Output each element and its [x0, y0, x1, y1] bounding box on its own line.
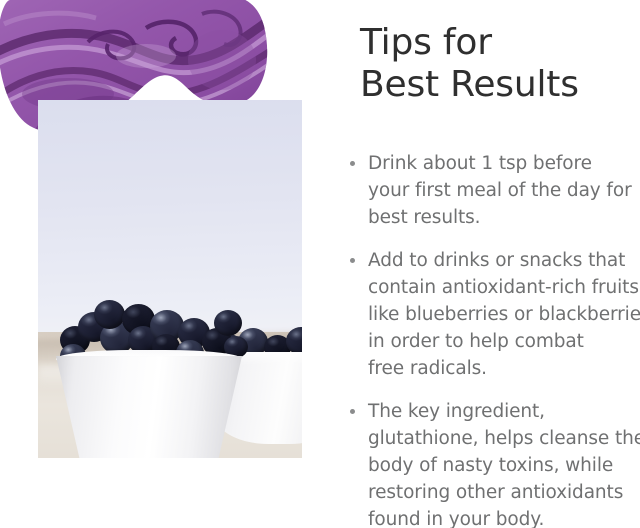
page-title-line-1: Tips for: [360, 22, 632, 64]
list-item-line: glutathione, helps cleanse the: [368, 425, 640, 452]
list-item: Add to drinks or snacks that contain ant…: [342, 247, 640, 382]
text-column: Tips for Best Results Drink about 1 tsp …: [336, 0, 640, 528]
list-item-line: body of nasty toxins, while: [368, 452, 640, 479]
list-item-text: Add to drinks or snacks that contain ant…: [368, 247, 640, 382]
tips-list: Drink about 1 tsp before your first meal…: [342, 150, 640, 528]
list-item-line: Add to drinks or snacks that: [368, 247, 640, 274]
list-item-line: contain antioxidant-rich fruits: [368, 274, 640, 301]
list-item: Drink about 1 tsp before your first meal…: [342, 150, 640, 231]
list-item-line: like blueberries or blackberries: [368, 301, 640, 328]
visual-column: [0, 0, 320, 528]
tips-card: Tips for Best Results Drink about 1 tsp …: [0, 0, 640, 528]
list-item-line: best results.: [368, 204, 640, 231]
bullet-dot-icon: [350, 161, 355, 166]
list-item-line: your first meal of the day for: [368, 177, 640, 204]
page-title: Tips for Best Results: [360, 22, 632, 106]
list-item-line: free radicals.: [368, 355, 640, 382]
blueberry-photo: [38, 100, 302, 458]
photo-scene: [38, 100, 302, 458]
bullet-dot-icon: [350, 409, 355, 414]
bullet-dot-icon: [350, 258, 355, 263]
list-item-line: Drink about 1 tsp before: [368, 150, 640, 177]
list-item-line: restoring other antioxidants: [368, 479, 640, 506]
list-item-line: found in your body.: [368, 506, 640, 528]
front-bowl: [56, 356, 242, 458]
list-item-line: The key ingredient,: [368, 398, 640, 425]
list-item: The key ingredient, glutathione, helps c…: [342, 398, 640, 528]
list-item-line: in order to help combat: [368, 328, 640, 355]
list-item-text: Drink about 1 tsp before your first meal…: [368, 150, 640, 231]
list-item-text: The key ingredient, glutathione, helps c…: [368, 398, 640, 528]
page-title-line-2: Best Results: [360, 64, 632, 106]
